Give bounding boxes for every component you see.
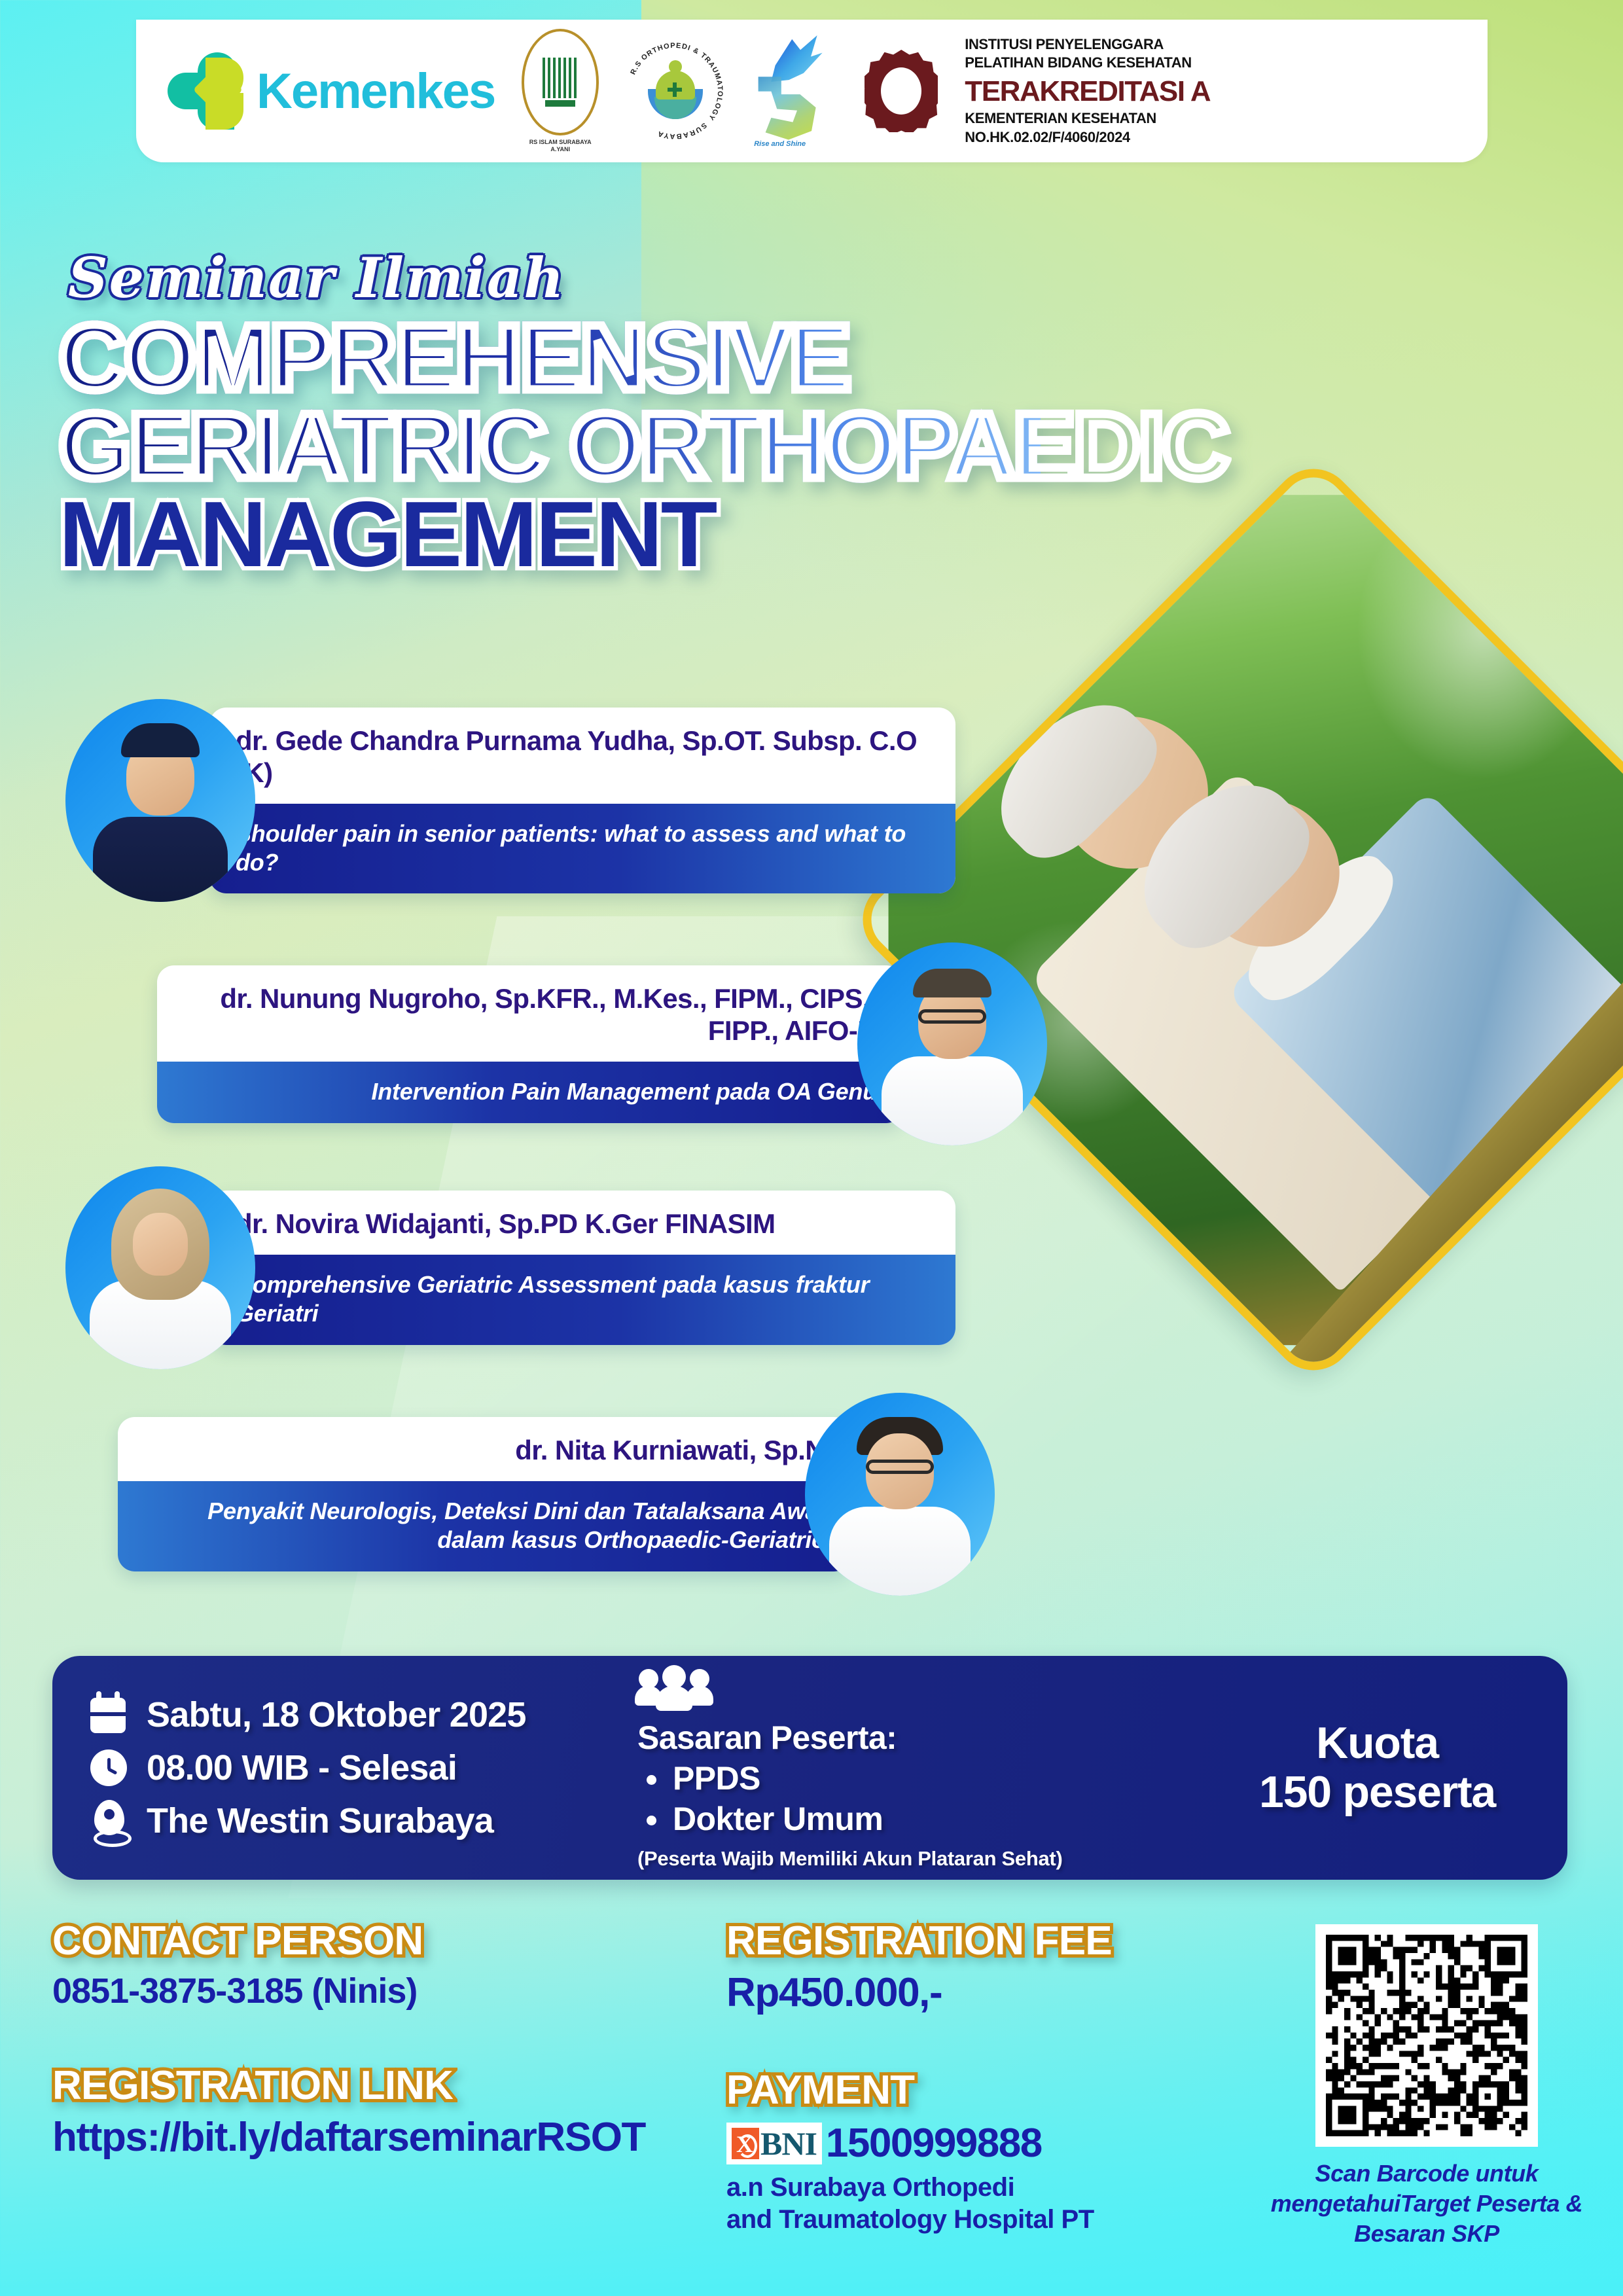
rsot-surabaya-logo: R.S ORTHOPEDI & TRAUMATOLOGY SURABAYA bbox=[626, 42, 724, 140]
rsi-base-bar bbox=[545, 100, 575, 107]
event-venue-row: The Westin Surabaya bbox=[90, 1799, 628, 1843]
quota-block: Kuota 150 peserta bbox=[1217, 1719, 1567, 1817]
audience-item-dokter-umum: Dokter Umum bbox=[637, 1800, 1217, 1838]
anniversary-number bbox=[755, 69, 827, 143]
bank-holder: a.n Surabaya Orthopedi and Traumatology … bbox=[726, 2172, 1224, 2236]
bank-holder-line2: and Traumatology Hospital PT bbox=[726, 2205, 1094, 2234]
rsi-line2: A.YANI bbox=[550, 146, 570, 152]
speaker-card-4: dr. Nita Kurniawati, Sp.N Penyakit Neuro… bbox=[118, 1393, 995, 1596]
accred-line3: KEMENTERIAN KESEHATAN bbox=[965, 110, 1210, 128]
payment-heading: PAYMENT bbox=[726, 2067, 1224, 2113]
event-date: Sabtu, 18 Oktober 2025 bbox=[147, 1695, 526, 1735]
calendar-icon bbox=[90, 1693, 130, 1737]
svg-text:SURABAYA: SURABAYA bbox=[656, 121, 708, 140]
qr-caption: Scan Barcode untuk mengetahuiTarget Pese… bbox=[1263, 2159, 1590, 2249]
anniversary-15-logo: Rise and Shine bbox=[746, 35, 838, 147]
accred-line1: INSTITUSI PENYELENGGARA bbox=[965, 36, 1210, 54]
fee-heading: REGISTRATION FEE bbox=[726, 1918, 1224, 1964]
kemenkes-logo: Kemenkes bbox=[168, 52, 495, 130]
title-line-2: GERIATRIC ORTHOPAEDIC bbox=[59, 403, 1041, 491]
audience-heading: Sasaran Peserta: bbox=[637, 1719, 1217, 1757]
event-date-row: Sabtu, 18 Oktober 2025 bbox=[90, 1693, 628, 1737]
speaker-2-card: dr. Nunung Nugroho, Sp.KFR., M.Kes., FIP… bbox=[157, 965, 903, 1123]
speaker-2-topic: Intervention Pain Management pada OA Gen… bbox=[157, 1062, 903, 1123]
speaker-4-card: dr. Nita Kurniawati, Sp.N Penyakit Neuro… bbox=[118, 1417, 851, 1571]
registration-link-value[interactable]: https://bit.ly/daftarseminarRSOT bbox=[52, 2114, 720, 2161]
speaker-3-name: dr. Novira Widajanti, Sp.PD K.Ger FINASI… bbox=[209, 1191, 955, 1255]
bni-logo-icon: BNI bbox=[726, 2123, 822, 2164]
pretitle: Seminar Ilmiah bbox=[68, 245, 1041, 310]
speaker-1-photo bbox=[65, 699, 255, 902]
title-line-3: MANAGEMENT bbox=[59, 491, 1041, 579]
anniversary-tagline: Rise and Shine bbox=[754, 140, 806, 148]
rsi-calligraphy-icon bbox=[543, 58, 578, 98]
kemenkes-wordmark: Kemenkes bbox=[257, 63, 495, 120]
event-time-row: 08.00 WIB - Selesai bbox=[90, 1746, 628, 1790]
poster-title-block: Seminar Ilmiah COMPREHENSIVE GERIATRIC O… bbox=[59, 245, 1041, 579]
speaker-1-name: dr. Gede Chandra Purnama Yudha, Sp.OT. S… bbox=[209, 708, 955, 804]
bottom-section: CONTACT PERSON 0851-3875-3185 (Ninis) RE… bbox=[0, 1918, 1623, 2284]
event-logistics: Sabtu, 18 Oktober 2025 08.00 WIB - Seles… bbox=[52, 1684, 628, 1852]
speaker-4-photo bbox=[805, 1393, 995, 1596]
quota-value: 150 peserta bbox=[1217, 1768, 1537, 1817]
speaker-4-topic: Penyakit Neurologis, Deteksi Dini dan Ta… bbox=[118, 1481, 851, 1571]
speaker-card-1: dr. Gede Chandra Purnama Yudha, Sp.OT. S… bbox=[65, 699, 955, 902]
registration-link-heading: REGISTRATION LINK bbox=[52, 2062, 720, 2109]
payment-column: REGISTRATION FEE Rp450.000,- PAYMENT BNI… bbox=[726, 1918, 1224, 2236]
speaker-1-topic: Shoulder pain in senior patients: what t… bbox=[209, 804, 955, 894]
contact-column: CONTACT PERSON 0851-3875-3185 (Ninis) RE… bbox=[52, 1918, 720, 2161]
rs-islam-surabaya-logo: RS ISLAM SURABAYA A.YANI bbox=[517, 29, 603, 153]
speaker-2-photo bbox=[857, 942, 1047, 1145]
rsi-caption: RS ISLAM SURABAYA A.YANI bbox=[529, 139, 592, 154]
accreditation-seal-icon bbox=[860, 42, 942, 140]
clock-icon bbox=[90, 1746, 130, 1790]
audience-block: Sasaran Peserta: PPDS Dokter Umum (Peser… bbox=[628, 1665, 1217, 1871]
people-group-icon bbox=[637, 1665, 711, 1712]
bank-holder-line1: a.n Surabaya Orthopedi bbox=[726, 2173, 1014, 2202]
bank-name: BNI bbox=[760, 2125, 817, 2162]
event-time: 08.00 WIB - Selesai bbox=[147, 1748, 457, 1788]
main-title: COMPREHENSIVE GERIATRIC ORTHOPAEDIC MANA… bbox=[59, 314, 1041, 579]
quota-label: Kuota bbox=[1217, 1719, 1537, 1768]
rsi-ellipse-frame bbox=[522, 29, 599, 135]
bank-account-row: BNI 1500999888 bbox=[726, 2120, 1224, 2166]
event-venue: The Westin Surabaya bbox=[147, 1801, 493, 1841]
qr-column: Scan Barcode untuk mengetahuiTarget Pese… bbox=[1263, 1924, 1590, 2249]
bird-icon bbox=[771, 35, 823, 84]
hero-diamond-frame bbox=[846, 452, 1623, 1387]
event-info-bar: Sabtu, 18 Oktober 2025 08.00 WIB - Seles… bbox=[52, 1656, 1567, 1880]
header-logo-bar: Kemenkes RS ISLAM SURABAYA A.YANI R.S OR… bbox=[136, 20, 1488, 162]
rsi-line1: RS ISLAM SURABAYA bbox=[529, 139, 592, 145]
speaker-3-photo bbox=[65, 1166, 255, 1369]
title-line-1: COMPREHENSIVE bbox=[59, 314, 1041, 403]
speaker-3-card: dr. Novira Widajanti, Sp.PD K.Ger FINASI… bbox=[209, 1191, 955, 1344]
speaker-2-name: dr. Nunung Nugroho, Sp.KFR., M.Kes., FIP… bbox=[157, 965, 903, 1062]
rsot-emblem-icon bbox=[647, 60, 703, 122]
accred-line2: PELATIHAN BIDANG KESEHATAN bbox=[965, 54, 1210, 72]
qr-code[interactable] bbox=[1315, 1924, 1538, 2147]
speaker-card-2: dr. Nunung Nugroho, Sp.KFR., M.Kes., FIP… bbox=[157, 942, 1047, 1145]
speaker-3-topic: Comprehensive Geriatric Assessment pada … bbox=[209, 1255, 955, 1345]
accred-status: TERAKREDITASI A bbox=[965, 76, 1210, 107]
audience-note: (Peserta Wajib Memiliki Akun Plataran Se… bbox=[637, 1847, 1217, 1871]
speaker-4-name: dr. Nita Kurniawati, Sp.N bbox=[118, 1417, 851, 1481]
bank-account-number: 1500999888 bbox=[826, 2120, 1042, 2166]
kemenkes-clover-icon bbox=[168, 52, 245, 130]
speaker-1-card: dr. Gede Chandra Purnama Yudha, Sp.OT. S… bbox=[209, 708, 955, 894]
audience-item-ppds: PPDS bbox=[637, 1759, 1217, 1797]
contact-heading: CONTACT PERSON bbox=[52, 1918, 720, 1964]
speaker-card-3: dr. Novira Widajanti, Sp.PD K.Ger FINASI… bbox=[65, 1166, 955, 1369]
location-pin-icon bbox=[90, 1799, 130, 1843]
elderly-couple-photo bbox=[889, 495, 1623, 1345]
fee-value: Rp450.000,- bbox=[726, 1969, 1224, 2016]
contact-value[interactable]: 0851-3875-3185 (Ninis) bbox=[52, 1971, 720, 2011]
accreditation-text-block: INSTITUSI PENYELENGGARA PELATIHAN BIDANG… bbox=[965, 36, 1210, 147]
accred-line4: NO.HK.02.02/F/4060/2024 bbox=[965, 129, 1210, 147]
